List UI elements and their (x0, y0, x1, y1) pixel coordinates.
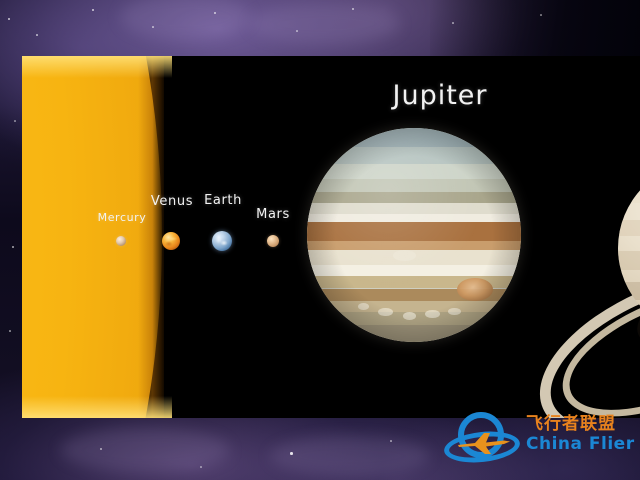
label-mercury: Mercury (98, 211, 147, 224)
flier-globe-icon (444, 410, 520, 472)
star (290, 452, 293, 455)
logo-text-block: 飞行者联盟 China Flier (526, 414, 635, 454)
planet-jupiter (307, 128, 521, 342)
solar-system-comparison-image: Mercury Venus Earth Mars Jupiter 飞行者联盟 C… (0, 0, 640, 480)
jupiter-shading (307, 128, 521, 342)
star (152, 26, 154, 28)
star (452, 22, 454, 24)
sun-body (22, 56, 172, 418)
sun-limb-darkening (138, 56, 164, 418)
china-flier-watermark: 飞行者联盟 China Flier (440, 404, 636, 476)
star (352, 8, 354, 10)
star (14, 120, 16, 122)
label-mars: Mars (256, 207, 290, 222)
planet-saturn (542, 136, 640, 418)
planet-mercury (116, 236, 126, 246)
star (100, 448, 102, 450)
label-jupiter: Jupiter (392, 80, 487, 111)
star (36, 34, 38, 36)
planet-earth (212, 231, 232, 251)
label-earth: Earth (204, 193, 242, 208)
nebula-wisp (270, 436, 430, 476)
star (8, 18, 10, 20)
star (12, 246, 14, 248)
logo-chinese-text: 飞行者联盟 (526, 414, 635, 434)
venus-cloud-detail (162, 232, 180, 250)
sun-bottom-glow (22, 396, 172, 418)
airplane-icon (456, 430, 512, 454)
nebula-wisp (60, 428, 230, 472)
nebula-dark-corner (430, 0, 640, 60)
star (214, 12, 216, 14)
logo-english-text: China Flier (526, 434, 635, 454)
image-content-frame: Mercury Venus Earth Mars Jupiter (22, 56, 640, 418)
star (390, 440, 392, 442)
star (200, 466, 202, 468)
star (540, 14, 542, 16)
label-venus: Venus (151, 194, 193, 209)
earth-surface-detail (212, 231, 232, 251)
planet-mars (267, 235, 279, 247)
sun-top-glow (22, 56, 172, 78)
star (296, 30, 298, 32)
star (9, 330, 11, 332)
planet-venus (162, 232, 180, 250)
star (92, 9, 94, 11)
nebula-wisp (250, 4, 400, 44)
